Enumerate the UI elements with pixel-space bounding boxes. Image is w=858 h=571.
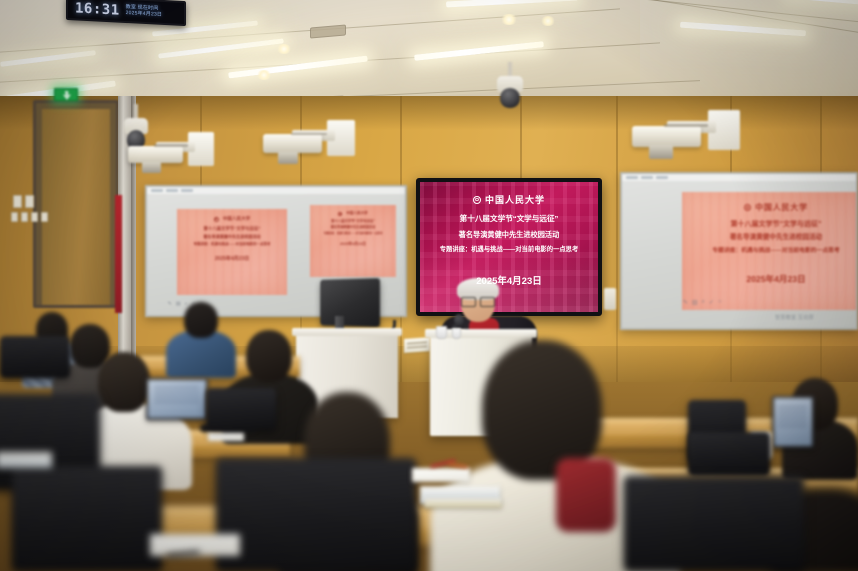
desk-books	[424, 498, 502, 508]
university-seal-icon	[214, 217, 219, 222]
clock-time: 16:31	[75, 0, 120, 18]
microphone-icon	[454, 314, 464, 326]
side-door[interactable]	[33, 100, 119, 308]
slide-date: 2025年4月23日	[310, 242, 396, 247]
projected-slide: 中国人民大学 第十八届文学节“文学与远征” 著名导演黄健中先生进校园活动 专题讲…	[682, 192, 858, 310]
ptz-dome-camera	[497, 62, 523, 114]
glasses-icon	[461, 297, 495, 305]
wb-chip-icon	[166, 189, 178, 192]
chair-back	[624, 476, 804, 571]
desk-papers	[412, 468, 470, 482]
ceiling-projector	[263, 120, 355, 156]
chair-back	[12, 466, 162, 571]
slide-university: 中国人民大学	[755, 202, 808, 213]
chair-back	[0, 336, 70, 378]
student-head	[246, 330, 292, 382]
desk-books	[0, 452, 52, 468]
light-switch-panel[interactable]	[25, 195, 34, 208]
ceiling-downlight	[500, 14, 518, 25]
light-switch-panel[interactable]	[13, 195, 22, 208]
slide-line-2: 著名导演黄健中先生进校园活动	[420, 230, 598, 240]
projected-slide: 中国人民大学 第十八届文学节“文学与远征” 著名导演黄健中先生进校园活动 专题讲…	[310, 205, 396, 277]
ceiling-light	[680, 22, 806, 37]
whiteboard-brand: 智慧教室 互动屏	[775, 314, 814, 321]
wb-chip-icon	[151, 189, 163, 192]
whiteboard-topbar	[622, 174, 856, 181]
ceiling-downlight	[256, 70, 272, 80]
water-cup[interactable]	[436, 326, 447, 339]
whiteboard-topbar	[147, 187, 405, 194]
desk-papers	[208, 432, 244, 441]
chair-back	[206, 388, 276, 430]
slide-university: 中国人民大学	[485, 193, 545, 206]
light-switch-panel[interactable]	[11, 212, 18, 222]
chair-back	[216, 458, 416, 571]
wb-chip-icon	[641, 176, 653, 179]
desk-nameplate	[404, 337, 430, 353]
lecture-hall-photo: 16:31 教室 现在时间 2025年4月23日	[0, 0, 858, 571]
eraser-icon[interactable]: ▤	[692, 299, 698, 306]
slide-line-1: 第十八届文学节“文学与远征”	[420, 214, 598, 224]
chair-back	[688, 432, 770, 476]
university-seal-icon	[744, 204, 751, 211]
exit-sign-icon	[54, 88, 78, 101]
wall-control-box[interactable]	[604, 288, 616, 310]
pen-icon[interactable]: ✎	[683, 299, 688, 306]
wall-red-accent	[115, 195, 122, 313]
slide-university: 中国人民大学	[223, 216, 251, 222]
slide-date: 2025年4月23日	[682, 274, 858, 285]
student-scarf	[556, 458, 616, 532]
slide-line-2: 著名导演黄健中先生进校园活动	[682, 234, 858, 243]
slide-date: 2025年4月23日	[420, 276, 598, 289]
wb-chip-icon	[656, 176, 668, 179]
ceiling-light	[786, 0, 858, 6]
slide-line-2: 著名导演黄健中先生进校园活动	[177, 234, 287, 239]
slide-line-1: 第十八届文学节“文学与远征”	[682, 220, 858, 229]
ceiling-projector	[128, 132, 214, 166]
slide-line-3: 专题讲座：机遇与挑战——对当前电影的一点思考	[177, 242, 287, 247]
slide-line-1: 第十八届文学节“文学与远征”	[177, 226, 287, 232]
ceiling-downlight	[540, 16, 556, 26]
clock-sub-line-2: 2025年4月23日	[126, 10, 162, 18]
student-laptop[interactable]	[772, 396, 814, 448]
light-switch-panel[interactable]	[31, 212, 38, 222]
ceiling-projector	[632, 110, 740, 150]
slide-date: 2025年4月23日	[177, 256, 287, 263]
ceiling-downlight	[276, 44, 292, 54]
water-cup[interactable]	[452, 328, 461, 339]
slide-line-3: 专题讲座：机遇与挑战——对当前电影的一点思考	[420, 246, 598, 254]
interactive-whiteboard-right[interactable]: 中国人民大学 第十八届文学节“文学与远征” 著名导演黄健中先生进校园活动 专题讲…	[620, 172, 858, 330]
university-seal-icon	[473, 196, 481, 204]
check-icon[interactable]: ✓	[709, 299, 714, 306]
wb-chip-icon	[626, 176, 638, 179]
university-seal-icon	[338, 212, 342, 216]
slide-line-3: 专题讲座：机遇与挑战——对当前电影的一点思考	[310, 232, 396, 236]
slide-line-1: 第十八届文学节“文学与远征”	[310, 219, 396, 223]
student-head	[184, 302, 218, 338]
zoom-icon[interactable]: ⌕	[702, 299, 705, 306]
more-icon[interactable]: ○	[718, 299, 722, 306]
light-switch-panel[interactable]	[41, 212, 48, 222]
wb-chip-icon	[181, 189, 193, 192]
student-laptop[interactable]	[146, 378, 208, 420]
whiteboard-toolbar[interactable]: ✎ ▤ ⌕ ✓ ○	[683, 299, 722, 306]
slide-line-2: 著名导演黄健中先生进校园活动	[310, 225, 396, 229]
slide-university: 中国人民大学	[346, 211, 368, 216]
slide-line-3: 专题讲座：机遇与挑战——对当前电影的一点思考	[682, 248, 858, 256]
light-switch-panel[interactable]	[21, 212, 28, 222]
projected-slide: 中国人民大学 第十八届文学节“文学与远征” 著名导演黄健中先生进校园活动 专题讲…	[177, 209, 287, 295]
student-head	[98, 352, 150, 412]
